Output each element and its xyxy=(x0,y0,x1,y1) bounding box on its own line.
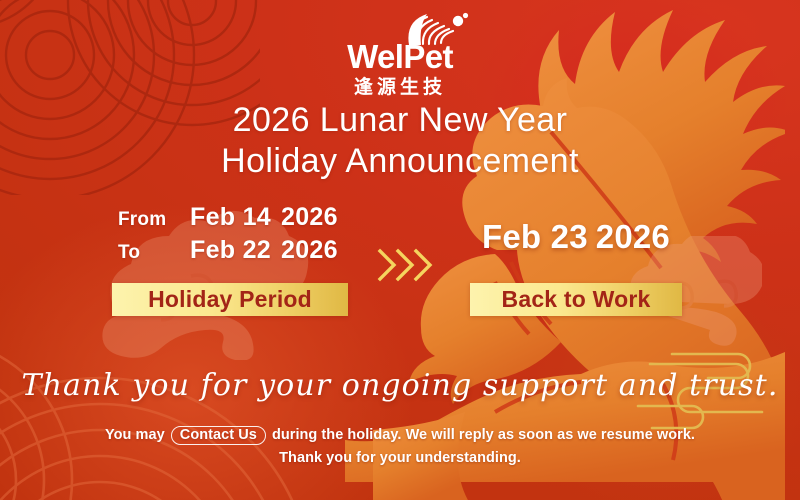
paw-swoosh-icon xyxy=(325,12,475,46)
holiday-period-badge: Holiday Period xyxy=(112,283,348,316)
holiday-date-range: From Feb 142026 To Feb 222026 xyxy=(118,203,358,269)
lunar-new-year-holiday-poster: WelPet 逢源生技 2026 Lunar New Year Holiday … xyxy=(0,0,800,500)
triple-chevron-right-icon xyxy=(376,246,434,284)
from-month-day: Feb 14 xyxy=(190,203,271,231)
from-row: From Feb 142026 xyxy=(118,203,358,236)
holiday-note: You may Contact Us during the holiday. W… xyxy=(0,424,800,471)
title-line-2: Holiday Announcement xyxy=(0,141,800,182)
to-month-day: Feb 22 xyxy=(190,236,271,264)
note-suffix: during the holiday. We will reply as soo… xyxy=(272,427,695,443)
to-row: To Feb 222026 xyxy=(118,236,358,269)
note-prefix: You may xyxy=(105,427,165,443)
title-line-1: 2026 Lunar New Year xyxy=(233,101,568,139)
to-label: To xyxy=(118,242,190,264)
note-line-2: Thank you for your understanding. xyxy=(0,447,800,470)
from-date: Feb 142026 xyxy=(190,203,338,232)
back-to-work-badge: Back to Work xyxy=(470,283,682,316)
to-year: 2026 xyxy=(281,236,338,264)
return-month-day: Feb 23 xyxy=(482,218,588,255)
from-year: 2026 xyxy=(281,203,338,231)
contact-us-link[interactable]: Contact Us xyxy=(171,426,266,445)
return-year: 2026 xyxy=(596,218,670,255)
from-label: From xyxy=(118,209,190,231)
brand-name-chinese: 逢源生技 xyxy=(354,78,446,97)
thank-you-message: Thank you for your ongoing support and t… xyxy=(0,368,800,403)
return-date: Feb 232026 xyxy=(470,218,682,256)
to-date: Feb 222026 xyxy=(190,236,338,265)
page-title: 2026 Lunar New Year Holiday Announcement xyxy=(0,100,800,183)
brand-logo: WelPet 逢源生技 xyxy=(0,12,800,97)
